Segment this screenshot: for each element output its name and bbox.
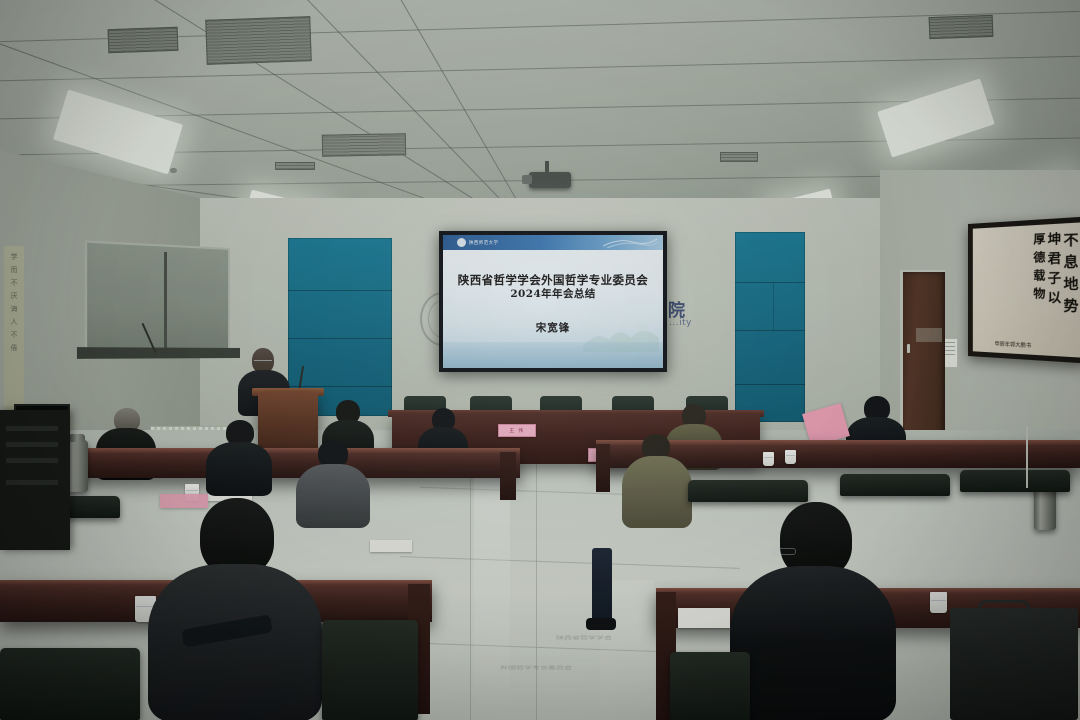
calligraphy-frame: 不息 地势 坤君 子以 厚德 载物 甲辰年郭大鹏书 [968, 216, 1080, 363]
projection-screen: 陕西师范大学 陕西省哲学学会外国哲学专业委员会 2024年年会总结 宋宽锋 [443, 235, 663, 368]
calligraphy-signature: 甲辰年郭大鹏书 [995, 340, 1032, 349]
slide-title-line2: 2024年年会总结 [443, 287, 663, 301]
door-handle[interactable] [907, 344, 910, 353]
chair-back[interactable] [960, 470, 1070, 492]
logo-emblem-icon [457, 238, 466, 247]
audience-torso [206, 442, 272, 496]
floor-reflection-text: 外国哲学专业委员会 [500, 665, 572, 671]
slide-university-logo: 陕西师范大学 [457, 238, 498, 247]
audience-torso [622, 456, 692, 528]
blind-pole[interactable] [164, 252, 167, 352]
window-sill [77, 347, 240, 359]
desk-side-panel [500, 452, 516, 500]
audience-member [148, 498, 322, 720]
desk-side-panel [596, 444, 610, 492]
window [85, 240, 230, 359]
ceiling-projector [529, 172, 571, 188]
calligraphy-paper: 不息 地势 坤君 子以 厚德 载物 甲辰年郭大鹏书 [973, 222, 1080, 357]
ceiling-vent [108, 27, 179, 53]
photo-canvas: 院 ...ity 陕西师范大学 陕西省哲学学会外国哲学专业委员会 2024年年会… [0, 0, 1080, 720]
av-equipment-rack [0, 410, 70, 550]
chair-back[interactable] [322, 620, 418, 720]
name-placard: 王 伟 [498, 424, 536, 437]
chair-back[interactable] [688, 480, 808, 502]
audience-shoe [586, 618, 616, 630]
document-sheet [370, 540, 412, 552]
audience-leg [592, 548, 612, 624]
hanging-scroll: 学而 不厌 诲人 不倦 [4, 246, 24, 430]
smoke-detector [170, 168, 177, 173]
ceiling-vent [205, 16, 312, 65]
luggage-bag [950, 608, 1078, 720]
calligraphy-column-1: 不息 地势 [1063, 228, 1078, 352]
ceiling-vent [720, 152, 758, 162]
audience-glasses-icon [772, 548, 796, 555]
calligraphy-column-3: 厚德 载物 [1033, 230, 1045, 350]
slide-decor-swoosh-icon [603, 237, 657, 248]
paper-cup [930, 592, 947, 613]
projection-screen-frame: 陕西师范大学 陕西省哲学学会外国哲学专业委员会 2024年年会总结 宋宽锋 [439, 231, 667, 372]
slide-header-bar: 陕西师范大学 [443, 235, 663, 250]
floor-reflection-text: 陕西省哲学学会 [556, 635, 612, 641]
chair-back[interactable] [840, 474, 950, 496]
chair-back[interactable] [0, 648, 140, 720]
audience-torso [148, 564, 322, 720]
audience-member [206, 420, 272, 492]
presenter-glasses-icon [254, 360, 272, 363]
audience-member [622, 434, 692, 526]
paper-cup [763, 452, 774, 466]
paper-cup [785, 450, 796, 464]
ceiling-vent [929, 15, 994, 39]
audience-torso [730, 566, 896, 720]
pointer-stick[interactable] [1026, 426, 1028, 488]
slide-title-line1: 陕西省哲学学会外国哲学专业委员会 [443, 273, 663, 287]
chair-back[interactable] [670, 652, 750, 720]
wall-sign-latin: ...ity [669, 318, 692, 328]
document-sheet [678, 608, 730, 628]
slide-water-gradient [443, 342, 663, 368]
calligraphy-column-2: 坤君 子以 [1048, 229, 1062, 351]
door-window-plate [916, 328, 942, 342]
logo-text: 陕西师范大学 [469, 240, 498, 246]
acoustic-panel-right [735, 232, 805, 422]
room-door[interactable] [900, 270, 945, 442]
audience-member [730, 502, 896, 720]
slide-title-block: 陕西省哲学学会外国哲学专业委员会 2024年年会总结 [443, 273, 663, 302]
ceiling-vent [275, 162, 315, 170]
bag-handle [978, 600, 1030, 610]
ceiling-vent [322, 133, 406, 156]
